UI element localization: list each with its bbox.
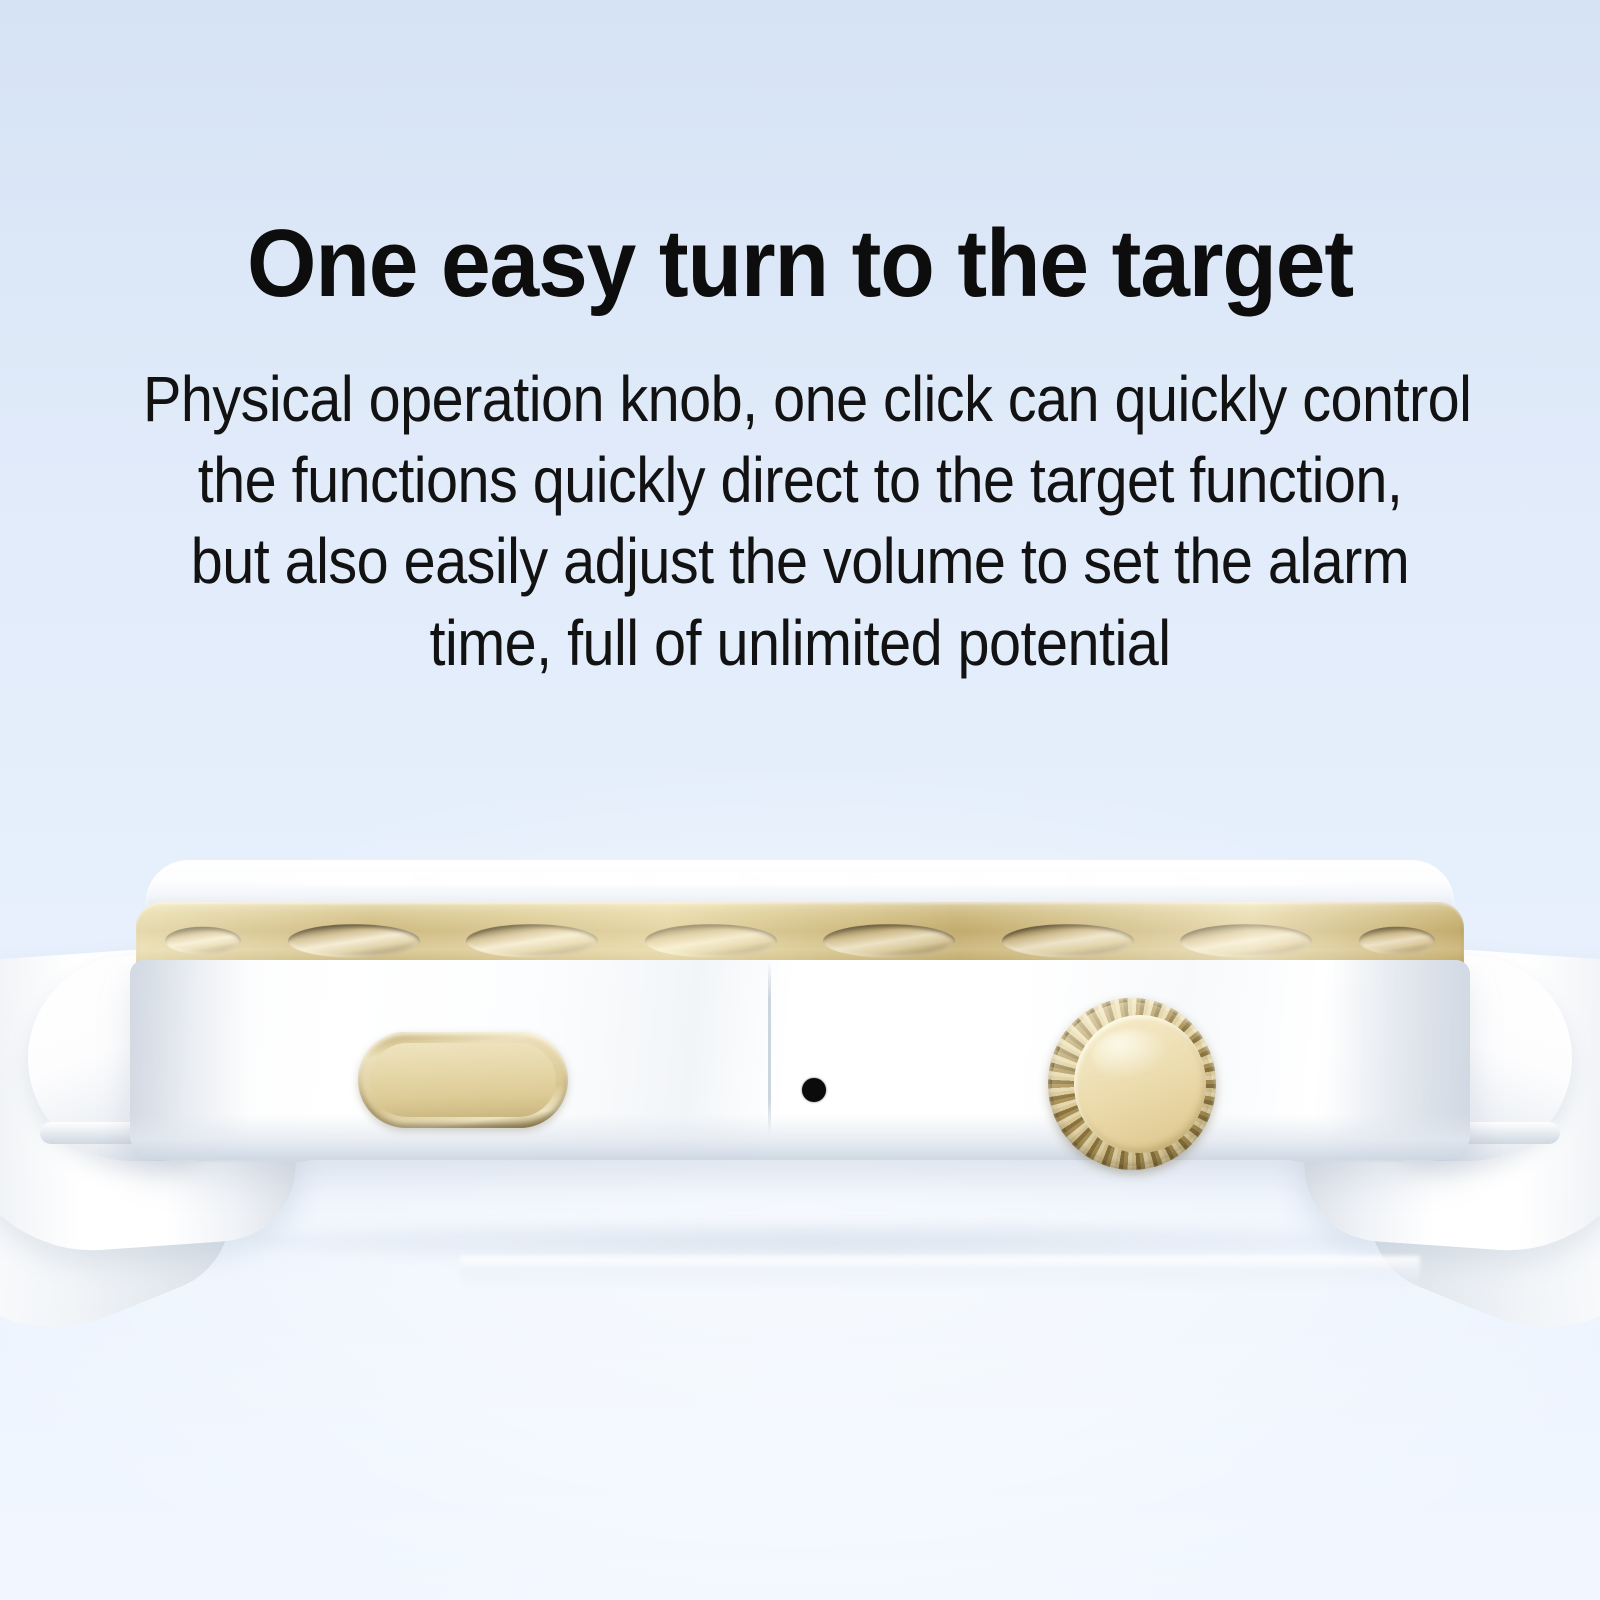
bezel-facet — [163, 927, 243, 955]
gold-side-button[interactable] — [358, 1032, 568, 1128]
bezel-facet — [462, 924, 602, 957]
bezel-facet — [284, 924, 424, 957]
page-subcopy: Physical operation knob, one click can q… — [143, 359, 1457, 684]
subcopy-line-2: the functions quickly direct to the targ… — [143, 440, 1457, 521]
watch-case-body — [130, 960, 1470, 1160]
faceted-gold-bezel — [136, 902, 1464, 968]
crown-face-highlight — [1092, 1030, 1170, 1080]
microphone-hole-icon — [802, 1078, 826, 1102]
product-reflection — [460, 1256, 1420, 1290]
subcopy-line-4: time, full of unlimited potential — [143, 603, 1457, 684]
product-image-smartwatch — [0, 830, 1600, 1390]
crystal-highlight — [216, 872, 1396, 886]
subcopy-line-3: but also easily adjust the volume to set… — [143, 521, 1457, 602]
side-button-face — [370, 1043, 556, 1117]
subcopy-line-1: Physical operation knob, one click can q… — [143, 359, 1457, 440]
gold-rotating-crown[interactable] — [1048, 998, 1216, 1170]
bezel-facet-row — [136, 918, 1464, 962]
bezel-facet — [998, 924, 1138, 957]
bezel-facet — [641, 924, 781, 957]
case-antenna-seam — [768, 960, 771, 1138]
bezel-facet — [1176, 924, 1316, 957]
marketing-copy-block: One easy turn to the target Physical ope… — [0, 214, 1600, 684]
page-headline: One easy turn to the target — [112, 214, 1488, 315]
case-bottom-edge — [130, 1114, 1470, 1160]
product-feature-poster: One easy turn to the target Physical ope… — [0, 0, 1600, 1600]
watch-case — [130, 860, 1470, 1190]
bezel-facet — [1357, 927, 1437, 955]
bezel-facet — [819, 924, 959, 957]
